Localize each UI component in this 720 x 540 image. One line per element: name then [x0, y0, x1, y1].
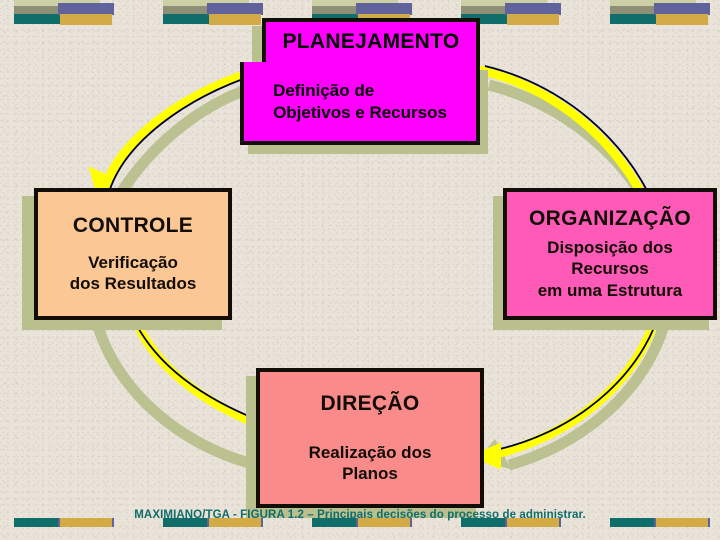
stripe-olive-block — [461, 6, 519, 15]
direcao-title: DIREÇÃO — [264, 392, 476, 416]
planejamento-seam — [266, 58, 476, 66]
organizacao-description: Disposição dos Recursos em uma Estrutura — [511, 237, 709, 301]
stripe-olive-block — [610, 6, 668, 15]
stripe-unit — [149, 0, 249, 26]
box-controle[interactable]: CONTROLE Verificação dos Resultados — [34, 188, 232, 320]
planejamento-description: Definição de Objetivos e Recursos — [273, 80, 447, 123]
arrow-controle-to-planejamento — [90, 72, 257, 196]
stripe-plate-block — [14, 0, 100, 17]
controle-title: CONTROLE — [42, 214, 224, 238]
stripe-gold-block — [60, 14, 112, 25]
direcao-description-line-2: Planos — [264, 463, 476, 484]
controle-description-line-2: dos Resultados — [42, 273, 224, 294]
stripe-unit — [596, 0, 696, 26]
stripe-plate-block — [461, 0, 547, 17]
stripe-gold-block — [656, 14, 708, 25]
stripe-gold-block — [209, 14, 261, 25]
box-planejamento-description-panel[interactable]: Definição de Objetivos e Recursos — [240, 62, 480, 145]
planejamento-description-line-1: Definição de — [273, 80, 447, 101]
organizacao-description-line-3: em uma Estrutura — [511, 280, 709, 301]
stripe-purple-block — [207, 3, 263, 15]
controle-description-line-1: Verificação — [42, 252, 224, 273]
figure-caption: MAXIMIANO/TGA - FIGURA 1.2 – Principais … — [0, 509, 720, 521]
slide-canvas: PLANEJAMENTO Definição de Objetivos e Re… — [0, 0, 720, 540]
stripe-purple-block — [356, 3, 412, 15]
direcao-description: Realização dos Planos — [264, 442, 476, 485]
stripe-purple-block — [58, 3, 114, 15]
stripe-plate-block — [610, 0, 696, 17]
stripe-unit — [0, 0, 100, 26]
stripe-teal-block — [610, 14, 657, 24]
stripe-purple-block — [654, 3, 710, 15]
organizacao-description-line-2: Recursos — [511, 258, 709, 279]
stripe-olive-block — [14, 6, 72, 15]
organizacao-description-line-1: Disposição dos — [511, 237, 709, 258]
organizacao-title: ORGANIZAÇÃO — [511, 207, 709, 231]
box-organizacao[interactable]: ORGANIZAÇÃO Disposição dos Recursos em u… — [503, 188, 717, 320]
stripe-plate-block — [163, 0, 249, 17]
stripe-plate-block — [312, 0, 398, 17]
stripe-teal-block — [163, 14, 210, 24]
controle-description: Verificação dos Resultados — [42, 252, 224, 295]
stripe-teal-block — [14, 14, 61, 24]
box-planejamento-title-panel[interactable]: PLANEJAMENTO — [262, 18, 480, 62]
planejamento-title: PLANEJAMENTO — [282, 30, 459, 54]
planejamento-description-line-2: Objetivos e Recursos — [273, 102, 447, 123]
stripe-gold-block — [507, 14, 559, 25]
stripe-olive-block — [312, 6, 370, 15]
direcao-description-line-1: Realização dos — [264, 442, 476, 463]
stripe-olive-block — [163, 6, 221, 15]
stripe-purple-block — [505, 3, 561, 15]
box-direcao[interactable]: DIREÇÃO Realização dos Planos — [256, 368, 484, 508]
